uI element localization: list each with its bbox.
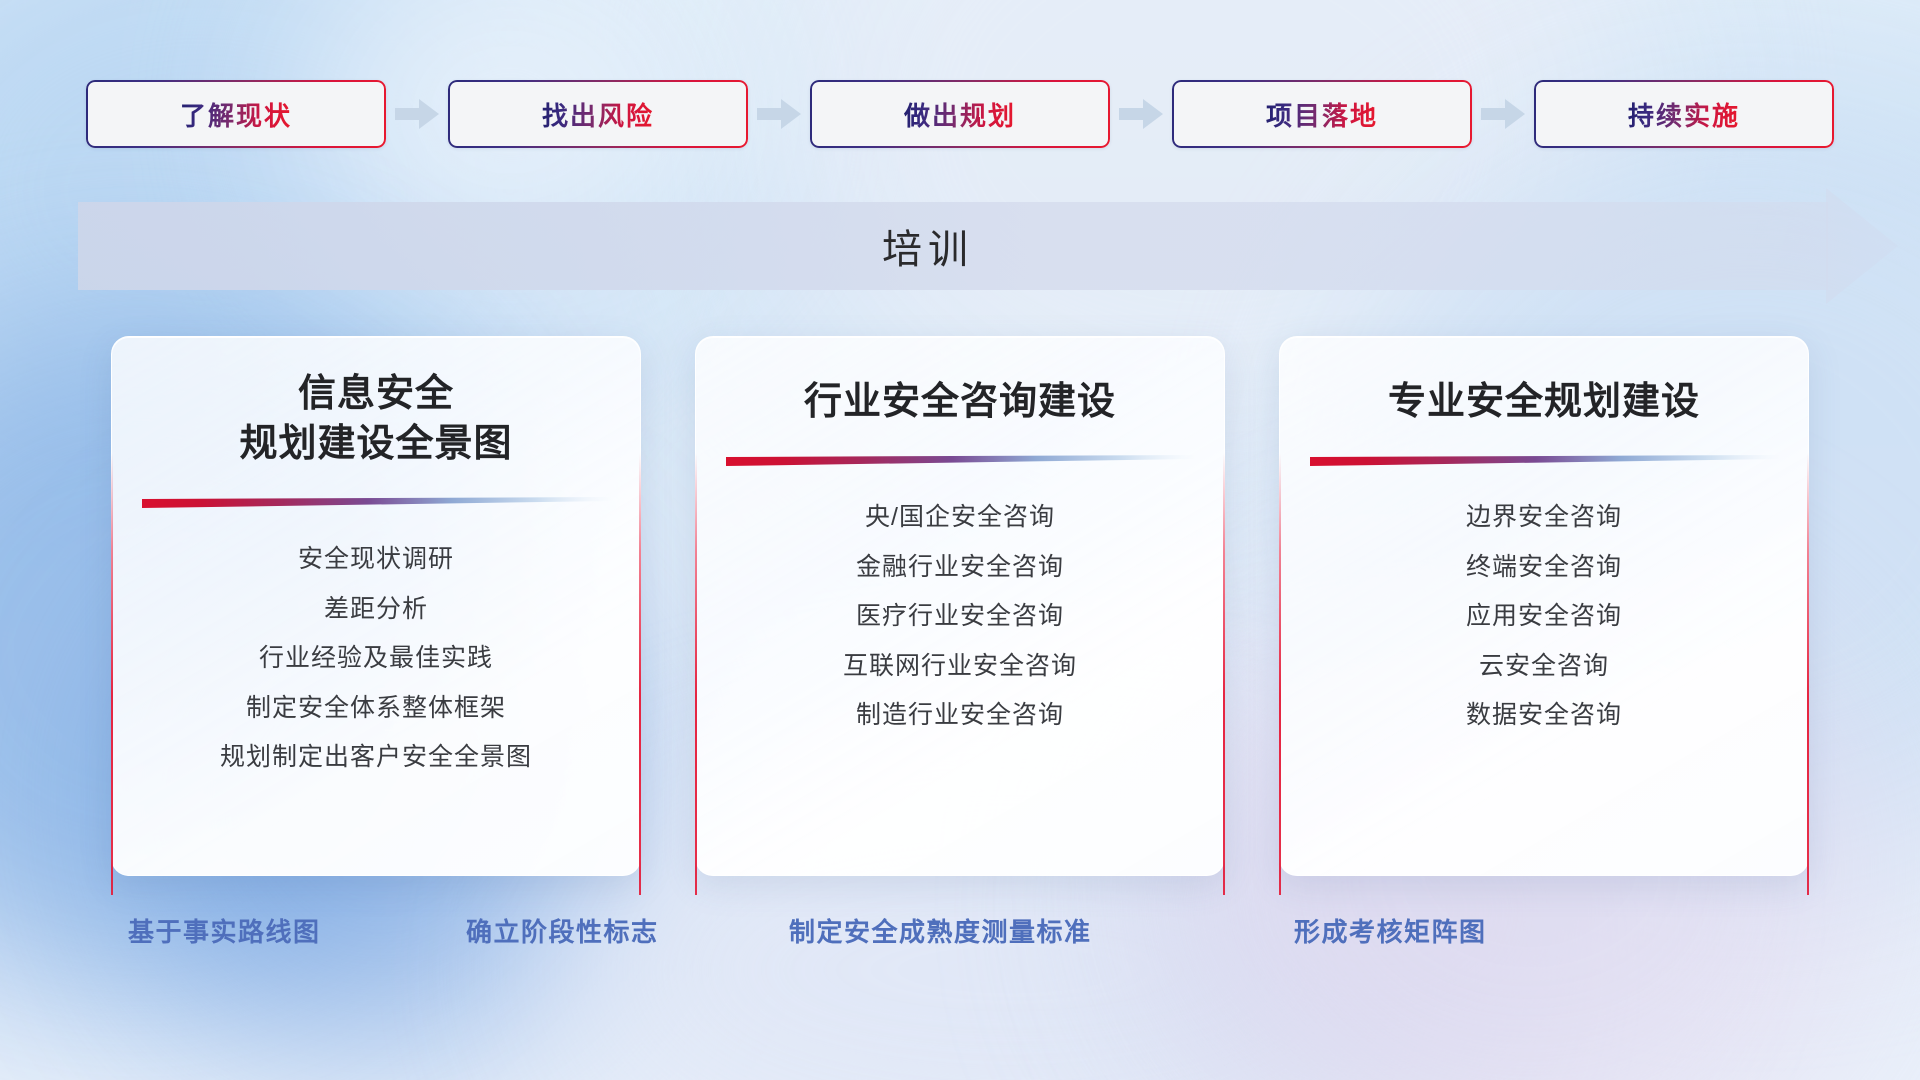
process-step-1[interactable]: 了解现状: [86, 80, 386, 148]
card-title: 信息安全 规划建设全景图: [112, 337, 640, 469]
footer-label-row: 基于事实路线图 确立阶段性标志 制定安全成熟度测量标准 形成考核矩阵图: [0, 912, 1920, 972]
card-professional-security-planning[interactable]: 专业安全规划建设: [1279, 336, 1809, 876]
list-item: 互联网行业安全咨询: [843, 645, 1077, 688]
list-item: 安全现状调研: [298, 538, 454, 581]
list-item: 金融行业安全咨询: [856, 546, 1064, 589]
process-step-label: 找出风险: [542, 96, 654, 133]
card-divider: [696, 453, 1224, 462]
process-step-label: 做出规划: [904, 96, 1016, 133]
list-item: 边界安全咨询: [1466, 496, 1622, 539]
card-accent-edge-right: [1223, 453, 1225, 895]
process-step-4[interactable]: 项目落地: [1172, 80, 1472, 148]
chevron-right-icon: [1472, 80, 1534, 148]
process-step-label: 项目落地: [1266, 96, 1378, 133]
card-divider: [112, 495, 640, 504]
list-item: 规划制定出客户安全全景图: [220, 736, 532, 779]
list-item: 差距分析: [324, 588, 428, 631]
card-divider-shape: [726, 453, 1194, 462]
card-accent-edge-right: [639, 453, 641, 895]
card-divider-shape: [142, 495, 610, 504]
card-title-line: 规划建设全景图: [142, 419, 610, 469]
card-title-line: 行业安全咨询建设: [726, 377, 1194, 427]
card-divider-shape: [1310, 453, 1778, 462]
training-band: 培训: [78, 202, 1898, 290]
card-accent-edge-left: [1279, 453, 1281, 895]
card-item-list: 安全现状调研 差距分析 行业经验及最佳实践 制定安全体系整体框架 规划制定出客户…: [112, 538, 640, 779]
card-title: 专业安全规划建设: [1280, 337, 1808, 427]
process-step-label: 了解现状: [180, 96, 292, 133]
list-item: 行业经验及最佳实践: [259, 637, 493, 680]
footer-label-maturity: 制定安全成熟度测量标准: [789, 912, 1092, 949]
card-item-list: 边界安全咨询 终端安全咨询 应用安全咨询 云安全咨询 数据安全咨询: [1280, 496, 1808, 737]
card-title-line: 专业安全规划建设: [1310, 377, 1778, 427]
card-accent-edge-left: [111, 453, 113, 895]
list-item: 数据安全咨询: [1466, 694, 1622, 737]
card-title: 行业安全咨询建设: [696, 337, 1224, 427]
card-row: 信息安全 规划建设全景图: [0, 336, 1920, 876]
list-item: 应用安全咨询: [1466, 595, 1622, 638]
process-step-2[interactable]: 找出风险: [448, 80, 748, 148]
list-item: 制造行业安全咨询: [856, 694, 1064, 737]
process-step-5[interactable]: 持续实施: [1534, 80, 1834, 148]
card-info-security-blueprint[interactable]: 信息安全 规划建设全景图: [111, 336, 641, 876]
footer-label-matrix: 形成考核矩阵图: [1294, 912, 1487, 949]
card-title-line: 信息安全: [142, 369, 610, 419]
footer-label-roadmap: 基于事实路线图: [128, 912, 321, 949]
chevron-right-icon: [386, 80, 448, 148]
list-item: 制定安全体系整体框架: [246, 687, 506, 730]
list-item: 终端安全咨询: [1466, 546, 1622, 589]
process-step-3[interactable]: 做出规划: [810, 80, 1110, 148]
process-step-label: 持续实施: [1628, 96, 1740, 133]
footer-label-milestone: 确立阶段性标志: [466, 912, 659, 949]
card-industry-security-consulting[interactable]: 行业安全咨询建设: [695, 336, 1225, 876]
training-band-label: 培训: [78, 202, 1898, 290]
chevron-right-icon: [1110, 80, 1172, 148]
card-accent-edge-left: [695, 453, 697, 895]
list-item: 云安全咨询: [1479, 645, 1609, 688]
card-accent-edge-right: [1807, 453, 1809, 895]
card-item-list: 央/国企安全咨询 金融行业安全咨询 医疗行业安全咨询 互联网行业安全咨询 制造行…: [696, 496, 1224, 737]
card-divider: [1280, 453, 1808, 462]
process-step-row: 了解现状 找出风险 做出规划 项目落地 持续实施: [0, 78, 1920, 150]
list-item: 央/国企安全咨询: [865, 496, 1055, 539]
chevron-right-icon: [748, 80, 810, 148]
list-item: 医疗行业安全咨询: [856, 595, 1064, 638]
